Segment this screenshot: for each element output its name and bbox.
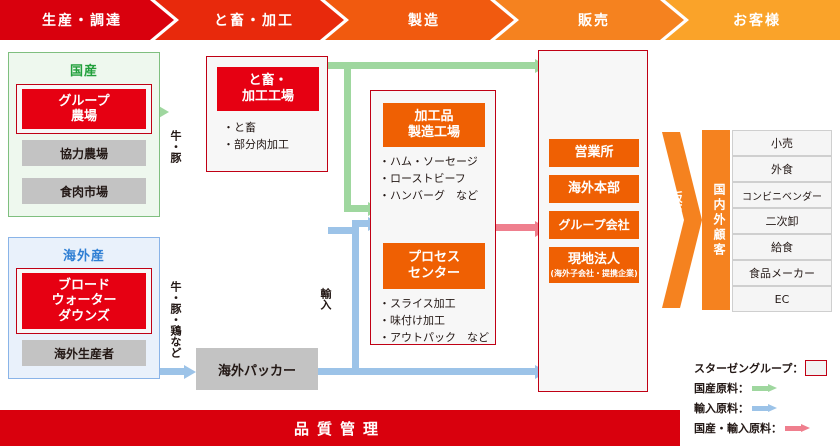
overseas-producer[interactable]: 海外生産者 (22, 340, 146, 366)
label: 二次卸 (766, 213, 799, 229)
legend-label-domestic: 国産原料： (694, 380, 749, 396)
customers-side-label: 国内外顧客 (707, 145, 725, 295)
phase-item-4[interactable]: お客様 (684, 0, 840, 40)
slaughter-title-line1: と畜・ (248, 73, 287, 89)
blue-arrowhead-packer (184, 365, 196, 379)
plant-bullets: ・ハム・ソーセージ ・ローストビーフ ・ハンバーグ など (379, 153, 478, 204)
label: 海外本部 (568, 181, 620, 197)
label: 食肉市場 (60, 183, 108, 200)
legend-arrow-imported-icon (752, 404, 778, 412)
overseas-broadwater-downs[interactable]: ブロード ウォーター ダウンズ (22, 273, 146, 329)
process-center-line2: センター (408, 266, 460, 282)
sublabel: (海外子会社・提携企業) (550, 269, 637, 279)
label: グループ会社 (558, 218, 629, 232)
legend-swatch-group (805, 360, 827, 376)
label: 現地法人 (568, 252, 620, 268)
phase-item-0[interactable]: 生産・調達 (0, 0, 174, 40)
blue-line-from-slaughter (328, 227, 352, 234)
customer-item-6[interactable]: EC (732, 286, 832, 312)
label: 外食 (771, 161, 793, 177)
process-bullet-1: ・味付け加工 (379, 312, 489, 329)
customer-item-1[interactable]: 外食 (732, 156, 832, 182)
customer-item-5[interactable]: 食品メーカー (732, 260, 832, 286)
quality-management-band: 品質管理 (0, 410, 680, 446)
label: 給食 (771, 239, 793, 255)
phase-item-3[interactable]: 販売 (514, 0, 684, 40)
plant-bullet-1: ・ローストビーフ (379, 170, 478, 187)
legend-label-mixed: 国産・輸入原料： (694, 420, 782, 436)
label: 協力農場 (60, 145, 108, 162)
green-line-top-to-sales (328, 62, 538, 69)
legend-row-mixed: 国産・輸入原料： (694, 418, 840, 438)
sales-office[interactable]: 営業所 (549, 139, 639, 167)
slaughter-bullet-0: ・と畜 (223, 119, 289, 136)
group-company[interactable]: グループ会社 (549, 211, 639, 239)
plant-bullet-0: ・ハム・ソーセージ (379, 153, 478, 170)
phase-label: と畜・加工 (214, 10, 294, 30)
slaughter-bullet-1: ・部分肉加工 (223, 136, 289, 153)
customer-item-4[interactable]: 給食 (732, 234, 832, 260)
manufacturing-frame: 加工品 製造工場 ・ハム・ソーセージ ・ローストビーフ ・ハンバーグ など プロ… (370, 90, 496, 345)
domestic-farm-line1: グループ (58, 94, 109, 109)
slaughter-plant-title[interactable]: と畜・ 加工工場 (217, 67, 319, 111)
phase-label: 生産・調達 (42, 10, 122, 30)
bwd-line1: ブロード (51, 278, 116, 293)
legend: スターゼングループ： 国産原料： 輸入原料： 国産・輸入原料： (694, 358, 840, 442)
slaughter-plant-frame: と畜・ 加工工場 ・と畜 ・部分肉加工 (206, 56, 328, 172)
label: 食品メーカー (749, 265, 815, 281)
legend-row-imported: 輸入原料： (694, 398, 840, 418)
overseas-group-title: 海外産 (9, 245, 159, 264)
domestic-partner-farm[interactable]: 協力農場 (22, 140, 146, 166)
legend-row-domestic: 国産原料： (694, 378, 840, 398)
overseas-packer[interactable]: 海外パッカー (196, 348, 318, 390)
label: EC (775, 293, 790, 306)
blue-line-bottom-to-sales (318, 368, 538, 375)
green-line-down-to-manufacturing (344, 62, 351, 212)
customer-item-0[interactable]: 小売 (732, 130, 832, 156)
flow-label-import: 輸入 (313, 278, 331, 320)
customer-item-3[interactable]: 二次卸 (732, 208, 832, 234)
label: 小売 (771, 135, 793, 151)
supply-chain-diagram: 生産・調達 と畜・加工 製造 販売 お客様 国産 グループ 農場 (0, 0, 840, 446)
processed-food-plant-title[interactable]: 加工品 製造工場 (383, 103, 485, 147)
slaughter-title-line2: 加工工場 (242, 89, 294, 105)
legend-label-imported: 輸入原料： (694, 400, 749, 416)
plant-title-line2: 製造工場 (408, 125, 460, 141)
phase-bar: 生産・調達 と畜・加工 製造 販売 お客様 (0, 0, 840, 40)
process-center-bullets: ・スライス加工 ・味付け加工 ・アウトパック など (379, 295, 489, 346)
label: 営業所 (574, 145, 613, 161)
process-bullet-2: ・アウトパック など (379, 329, 489, 346)
process-center-title[interactable]: プロセス センター (383, 243, 485, 289)
legend-row-group: スターゼングループ： (694, 358, 840, 378)
domestic-group-title: 国産 (9, 60, 159, 79)
domestic-group-farm[interactable]: グループ 農場 (22, 89, 146, 129)
plant-title-line1: 加工品 (414, 109, 453, 125)
phase-label: お客様 (733, 10, 781, 30)
label: コンビニベンダー (742, 188, 822, 203)
blue-line-import-vertical (352, 220, 359, 375)
legend-label-group: スターゼングループ： (694, 360, 803, 376)
phase-label: 販売 (578, 10, 610, 30)
sales-frame: 営業所 海外本部 グループ会社 現地法人 (海外子会社・提携企業) (538, 50, 648, 392)
process-center-line1: プロセス (408, 250, 460, 266)
phase-item-1[interactable]: と畜・加工 (174, 0, 344, 40)
process-bullet-0: ・スライス加工 (379, 295, 489, 312)
quality-management-label: 品質管理 (294, 418, 386, 439)
flow-label-cattle-pig: 牛・豚 (163, 116, 181, 176)
flow-label-cattle-pig-chicken: 牛・豚・鶏など (163, 272, 181, 367)
plant-bullet-2: ・ハンバーグ など (379, 187, 478, 204)
label: 海外生産者 (54, 345, 114, 362)
pink-line-to-sales (496, 224, 540, 231)
phase-label: 製造 (408, 10, 440, 30)
domestic-meat-market[interactable]: 食肉市場 (22, 178, 146, 204)
overseas-hq[interactable]: 海外本部 (549, 175, 639, 203)
sales-arrow-label: 販売 (666, 178, 682, 228)
phase-item-2[interactable]: 製造 (344, 0, 514, 40)
legend-arrow-domestic-icon (752, 384, 778, 392)
local-subsidiary[interactable]: 現地法人 (海外子会社・提携企業) (549, 247, 639, 283)
bwd-line2: ウォーター (51, 293, 116, 308)
customer-item-2[interactable]: コンビニベンダー (732, 182, 832, 208)
label: 海外パッカー (218, 360, 296, 379)
legend-arrow-mixed-icon (785, 424, 811, 432)
domestic-farm-line2: 農場 (58, 109, 109, 124)
bwd-line3: ダウンズ (51, 309, 116, 324)
slaughter-bullets: ・と畜 ・部分肉加工 (223, 119, 289, 153)
